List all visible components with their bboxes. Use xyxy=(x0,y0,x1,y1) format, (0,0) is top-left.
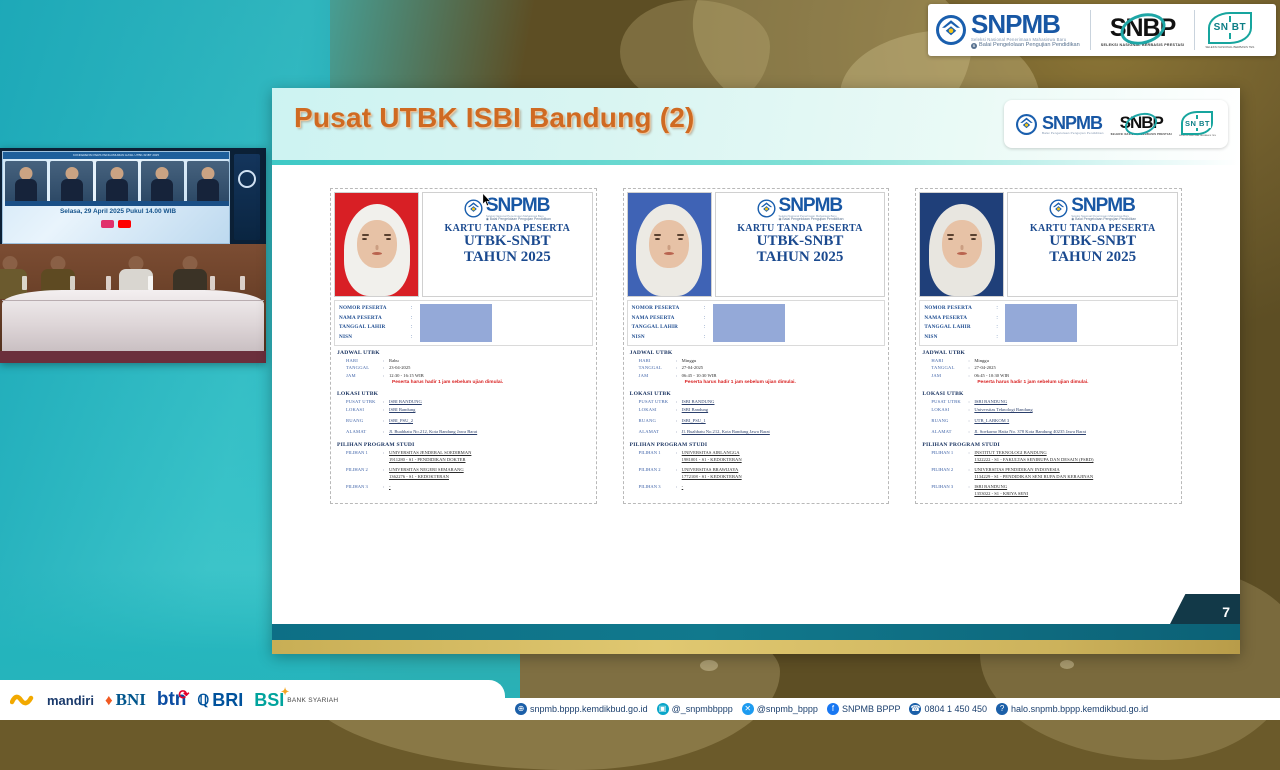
identity-block: NOMOR PESERTANAMA PESERTATANGGAL LAHIRNI… xyxy=(334,300,593,346)
snbt-leaf-icon: SN BT xyxy=(1208,12,1252,44)
snbt-leaf-icon: SN BT xyxy=(1181,111,1213,135)
snpmb-wordmark: SNPMB xyxy=(779,196,844,215)
prodi-label: PILIHAN 3 xyxy=(922,483,968,497)
speaker-portraits xyxy=(5,161,229,201)
card-header: SNPMB Seleksi Nasional Penerimaan Mahasi… xyxy=(1007,192,1178,297)
contact-item[interactable]: fSNPMB BPPP xyxy=(827,703,901,715)
prodi-row: PILIHAN 2:UNIVERSITAS PENDIDIKAN INDONES… xyxy=(922,466,1175,480)
bank-logo-mandiri: mandiri xyxy=(10,691,94,709)
video-participant-tile[interactable]: KONFERENSI PERS PENGUMUMAN HASIL UTBK-SN… xyxy=(0,148,266,363)
prodi-row: PILIHAN 2:UNIVERSITAS BRAWIJAYA1772108 -… xyxy=(630,466,883,480)
card-title-line2: UTBK-SNBT xyxy=(757,234,844,250)
prodi-row: PILIHAN 1:UNIVERSITAS JENDERAL SOEDIRMAN… xyxy=(337,449,590,463)
prodi-label: PILIHAN 2 xyxy=(337,466,383,480)
help-icon: ? xyxy=(996,703,1008,715)
prodi-row: PILIHAN 2:UNIVERSITAS NEGERI SEMARANG136… xyxy=(337,466,590,480)
contact-text: 0804 1 450 450 xyxy=(924,704,987,714)
presentation-slide: Pusat UTBK ISBI Bandung (2) SNPMB Balai … xyxy=(272,88,1240,654)
field-label: JAM xyxy=(630,372,676,379)
snbp-logo: SNBP SELEKSI NASIONAL BERBASIS PRESTASI xyxy=(1111,113,1172,136)
card-header: SNPMB Seleksi Nasional Penerimaan Mahasi… xyxy=(422,192,593,297)
prodi-label: PILIHAN 3 xyxy=(337,483,383,490)
snpmb-unit: ◉ Balai Pengelolaan Pengujian Pendidikan xyxy=(1071,218,1136,221)
identity-block: NOMOR PESERTANAMA PESERTATANGGAL LAHIRNI… xyxy=(919,300,1178,346)
participant-card: SNPMB Seleksi Nasional Penerimaan Mahasi… xyxy=(915,188,1182,504)
snpmb-wordmark: SNPMB xyxy=(971,11,1080,37)
prodi-row: PILIHAN 3:- xyxy=(630,483,883,490)
facebook-icon: f xyxy=(827,703,839,715)
card-header: SNPMB Seleksi Nasional Penerimaan Mahasi… xyxy=(715,192,886,297)
participant-photo xyxy=(334,192,419,297)
prodi-label: PILIHAN 3 xyxy=(630,483,676,490)
snbt-logo: SN BT SELEKSI NASIONAL BERBASIS TES xyxy=(1205,12,1254,49)
contact-item[interactable]: ▣@_snpmbbppp xyxy=(657,703,733,715)
field-value: 27-04-2025 xyxy=(682,364,883,371)
snpmb-wordmark: SNPMB xyxy=(1042,114,1104,132)
snpmb-tagline: Balai Pengelolaan Pengujian Pendidikan xyxy=(1042,132,1104,135)
prodi-section: PILIHAN PROGRAM STUDI PILIHAN 1:UNIVERSI… xyxy=(627,442,886,490)
tutwuri-handayani-icon xyxy=(936,15,966,45)
snbt-tagline: SELEKSI NASIONAL BERBASIS TES xyxy=(1179,135,1216,137)
prodi-label: PILIHAN 1 xyxy=(337,449,383,463)
field-label: TANGGAL xyxy=(630,364,676,371)
bank-logo-bsi: BSI✦BANK SYARIAH xyxy=(254,690,338,711)
background-dot xyxy=(1060,660,1074,669)
prodi-value: - xyxy=(389,483,590,490)
prodi-row: PILIHAN 1:UNIVERSITAS AIRLANGGA1981001 -… xyxy=(630,449,883,463)
prodi-section: PILIHAN PROGRAM STUDI PILIHAN 1:UNIVERSI… xyxy=(334,442,593,490)
section-title: PILIHAN PROGRAM STUDI xyxy=(922,442,1175,448)
field-value: 06:45 - 10:30 WIB xyxy=(974,372,1175,379)
prodi-value: UNIVERSITAS NEGERI SEMARANG1362276 - S1 … xyxy=(389,466,590,480)
attendance-note: Peserta harus hadir 1 jam sebelum ujian … xyxy=(337,379,590,387)
id-field-label: NAMA PESERTA xyxy=(339,314,411,324)
id-field-label: NOMOR PESERTA xyxy=(924,304,996,314)
lokasi-section: LOKASI UTBK PUSAT UTBK:ISBI BANDUNG LOKA… xyxy=(334,391,593,436)
bppp-badge-icon: B xyxy=(971,43,977,49)
id-field-label: NISN xyxy=(924,333,996,343)
divider xyxy=(1090,10,1091,50)
snbt-logo: SN BT SELEKSI NASIONAL BERBASIS TES xyxy=(1179,111,1216,137)
redacted-identity xyxy=(713,304,785,342)
snpmb-logo: SNPMB Seleksi Nasional Penerimaan Mahasi… xyxy=(1049,196,1136,221)
snpmb-unit: ◉ Balai Pengelolaan Pengujian Pendidikan xyxy=(486,218,551,221)
field-value: 27-04-2025 xyxy=(974,364,1175,371)
field-label: JAM xyxy=(922,372,968,379)
section-title: LOKASI UTBK xyxy=(630,391,883,397)
attendance-note: Peserta harus hadir 1 jam sebelum ujian … xyxy=(630,379,883,387)
field-label: TANGGAL xyxy=(922,364,968,371)
field-value: 23-04-2025 xyxy=(389,364,590,371)
instagram-icon xyxy=(101,220,114,228)
mouse-cursor xyxy=(482,193,492,207)
jadwal-section: JADWAL UTBK HARI:RabuTANGGAL:23-04-2025J… xyxy=(334,350,593,387)
card-title-line3: TAHUN 2025 xyxy=(464,250,551,266)
participant-card: SNPMB Seleksi Nasional Penerimaan Mahasi… xyxy=(623,188,890,504)
snpmb-wordmark: SNPMB xyxy=(1071,196,1136,215)
contact-item[interactable]: ☎0804 1 450 450 xyxy=(909,703,987,715)
tutwuri-handayani-icon xyxy=(1016,114,1037,135)
globe-icon: ⊕ xyxy=(515,703,527,715)
prodi-value: UNIVERSITAS JENDERAL SOEDIRMAN1911280 - … xyxy=(389,449,590,463)
id-field-label: NAMA PESERTA xyxy=(632,314,704,324)
bank-logo-bri: ℚBRI xyxy=(197,690,243,711)
prodi-row: PILIHAN 3:- xyxy=(337,483,590,490)
section-title: LOKASI UTBK xyxy=(337,391,590,397)
card-title-line2: UTBK-SNBT xyxy=(464,234,551,250)
speaker-nameband xyxy=(5,201,229,206)
id-field-label: NISN xyxy=(339,333,411,343)
id-field-label: NOMOR PESERTA xyxy=(632,304,704,314)
background-dot xyxy=(700,660,718,671)
lokasi-section: LOKASI UTBK PUSAT UTBK:ISBI BANDUNG LOKA… xyxy=(919,391,1178,436)
section-title: PILIHAN PROGRAM STUDI xyxy=(337,442,590,448)
slide-footer-wave xyxy=(272,640,1240,654)
jadwal-section: JADWAL UTBK HARI:MingguTANGGAL:27-04-202… xyxy=(919,350,1178,387)
mandiri-icon xyxy=(10,691,44,709)
bank-logo-btn: btn⟳ xyxy=(157,689,187,711)
participant-card: SNPMB Seleksi Nasional Penerimaan Mahasi… xyxy=(330,188,597,504)
page-number: 7 xyxy=(1222,604,1230,620)
card-title-line2: UTBK-SNBT xyxy=(1049,234,1136,250)
twitter-icon: ✕ xyxy=(742,703,754,715)
lokasi-section: LOKASI UTBK PUSAT UTBK:ISBI BANDUNG LOKA… xyxy=(627,391,886,436)
id-field-label: NAMA PESERTA xyxy=(924,314,996,324)
field-value: Minggu xyxy=(682,357,883,364)
field-value: Minggu xyxy=(974,357,1175,364)
prodi-label: PILIHAN 1 xyxy=(922,449,968,463)
contact-text: @_snpmbbppp xyxy=(672,704,733,714)
id-field-label: TANGGAL LAHIR xyxy=(632,323,704,333)
snpmb-logo: SNPMB Balai Pengelolaan Pengujian Pendid… xyxy=(1016,114,1104,135)
prodi-value: UNIVERSITAS AIRLANGGA1981001 - S1 - KEDO… xyxy=(682,449,883,463)
card-title-line3: TAHUN 2025 xyxy=(1049,250,1136,266)
field-value: 06:45 - 10:30 WIB xyxy=(682,372,883,379)
section-title: JADWAL UTBK xyxy=(337,350,590,356)
field-label: HARI xyxy=(337,357,383,364)
contact-text: snpmb.bppp.kemdikbud.go.id xyxy=(530,704,648,714)
contact-item[interactable]: ⊕snpmb.bppp.kemdikbud.go.id xyxy=(515,703,648,715)
prodi-value: - xyxy=(682,483,883,490)
prodi-value: INSTITUT TEKNOLOGI BANDUNG1322222 - S1 -… xyxy=(974,449,1175,463)
snbt-tagline: SELEKSI NASIONAL BERBASIS TES xyxy=(1205,45,1254,49)
prodi-value: UNIVERSITAS PENDIDIKAN INDONESIA1134229 … xyxy=(974,466,1175,480)
snpmb-wordmark: SNPMB xyxy=(486,196,551,215)
participant-photo xyxy=(627,192,712,297)
contact-item[interactable]: ✕@snpmb_bppp xyxy=(742,703,818,715)
id-field-label: TANGGAL LAHIR xyxy=(339,323,411,333)
bottom-bar: mandiri♦BNIbtn⟳ℚBRIBSI✦BANK SYARIAH ⊕snp… xyxy=(0,674,1280,720)
flag-stand xyxy=(234,154,260,240)
slide-logo-bar: SNPMB Balai Pengelolaan Pengujian Pendid… xyxy=(1004,100,1228,148)
presentation-screen: KONFERENSI PERS PENGUMUMAN HASIL UTBK-SN… xyxy=(2,151,230,244)
snpmb-logo: SNPMB Seleksi Nasional Penerimaan Mahasi… xyxy=(936,11,1080,49)
prodi-row: PILIHAN 3:ISBI BANDUNG1353022 - S1 - KRI… xyxy=(922,483,1175,497)
contact-strip: ⊕snpmb.bppp.kemdikbud.go.id▣@_snpmbbppp✕… xyxy=(505,698,1280,720)
id-field-label: NISN xyxy=(632,333,704,343)
carpet xyxy=(0,351,266,363)
snpmb-logo: SNPMB Seleksi Nasional Penerimaan Mahasi… xyxy=(757,196,844,221)
contact-item[interactable]: ?halo.snpmb.bppp.kemdikbud.go.id xyxy=(996,703,1148,715)
snbp-logo: SNBP SELEKSI NASIONAL BERBASIS PRESTASI xyxy=(1101,14,1185,47)
prodi-row: PILIHAN 1:INSTITUT TEKNOLOGI BANDUNG1322… xyxy=(922,449,1175,463)
event-datetime: Selasa, 29 April 2025 Pukul 14.00 WIB xyxy=(3,208,233,215)
screen-banner-text: KONFERENSI PERS PENGUMUMAN HASIL UTBK-SN… xyxy=(3,152,229,159)
contact-text: halo.snpmb.bppp.kemdikbud.go.id xyxy=(1011,704,1148,714)
id-field-label: TANGGAL LAHIR xyxy=(924,323,996,333)
snpmb-unit: ◉ Balai Pengelolaan Pengujian Pendidikan xyxy=(779,218,844,221)
id-field-label: NOMOR PESERTA xyxy=(339,304,411,314)
prodi-label: PILIHAN 2 xyxy=(922,466,968,480)
redacted-identity xyxy=(1005,304,1077,342)
bank-logo-bni: ♦BNI xyxy=(105,690,146,710)
identity-block: NOMOR PESERTANAMA PESERTATANGGAL LAHIRNI… xyxy=(627,300,886,346)
field-label: JAM xyxy=(337,372,383,379)
social-icons xyxy=(101,220,131,228)
conference-table xyxy=(2,290,264,352)
top-logo-banner: SNPMB Seleksi Nasional Penerimaan Mahasi… xyxy=(928,4,1276,56)
instagram-icon: ▣ xyxy=(657,703,669,715)
attendance-note: Peserta harus hadir 1 jam sebelum ujian … xyxy=(922,379,1175,387)
section-title: PILIHAN PROGRAM STUDI xyxy=(630,442,883,448)
prodi-label: PILIHAN 1 xyxy=(630,449,676,463)
field-value: 12:30 - 16:15 WIB xyxy=(389,372,590,379)
contact-text: SNPMB BPPP xyxy=(842,704,901,714)
phone-icon: ☎ xyxy=(909,703,921,715)
section-title: JADWAL UTBK xyxy=(630,350,883,356)
participant-cards: SNPMB Seleksi Nasional Penerimaan Mahasi… xyxy=(272,188,1240,504)
field-value: Rabu xyxy=(389,357,590,364)
bank-logos: mandiri♦BNIbtn⟳ℚBRIBSI✦BANK SYARIAH xyxy=(0,680,505,720)
field-label: HARI xyxy=(630,357,676,364)
prodi-label: PILIHAN 2 xyxy=(630,466,676,480)
card-title-line3: TAHUN 2025 xyxy=(757,250,844,266)
field-label: TANGGAL xyxy=(337,364,383,371)
section-title: JADWAL UTBK xyxy=(922,350,1175,356)
field-label: HARI xyxy=(922,357,968,364)
prodi-value: UNIVERSITAS BRAWIJAYA1772108 - S1 - KEDO… xyxy=(682,466,883,480)
snpmb-logo: SNPMB Seleksi Nasional Penerimaan Mahasi… xyxy=(464,196,551,221)
section-title: LOKASI UTBK xyxy=(922,391,1175,397)
participant-photo xyxy=(919,192,1004,297)
prodi-value: ISBI BANDUNG1353022 - S1 - KRIYA SENI xyxy=(974,483,1175,497)
divider xyxy=(1194,10,1195,50)
snpmb-unit: B Balai Pengelolaan Pengujian Pendidikan xyxy=(971,43,1080,49)
jadwal-section: JADWAL UTBK HARI:MingguTANGGAL:27-04-202… xyxy=(627,350,886,387)
page-title: Pusat UTBK ISBI Bandung (2) xyxy=(294,102,695,134)
youtube-icon xyxy=(118,220,131,228)
redacted-identity xyxy=(420,304,492,342)
contact-text: @snpmb_bppp xyxy=(757,704,818,714)
prodi-section: PILIHAN PROGRAM STUDI PILIHAN 1:INSTITUT… xyxy=(919,442,1178,497)
